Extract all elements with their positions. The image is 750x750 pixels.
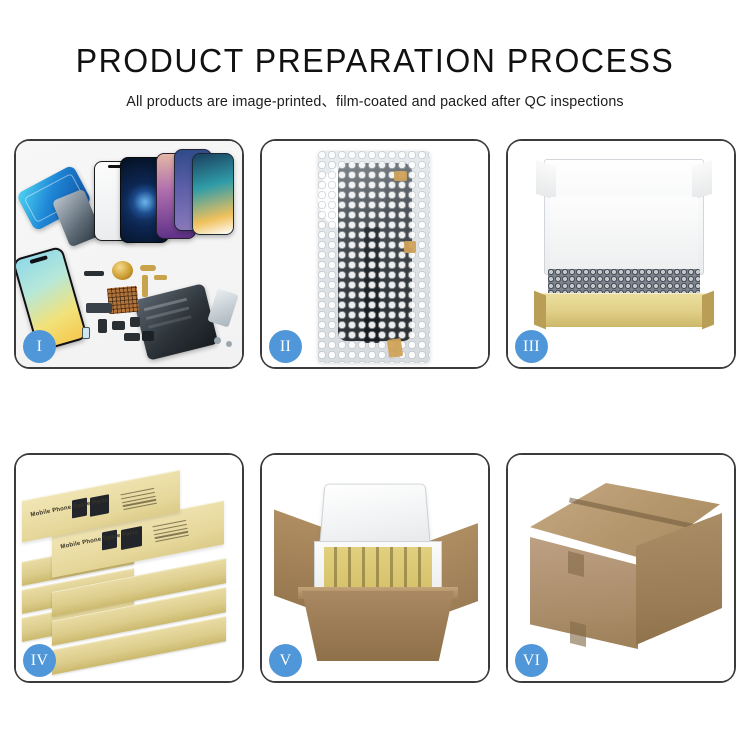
page-title: PRODUCT PREPARATION PROCESS [11,44,739,79]
spare-part [84,271,104,276]
step-badge-5: V [269,644,302,677]
foam-sheet [550,197,698,269]
process-step-5: V [260,453,490,683]
carton-body [302,591,454,661]
process-step-2: II [260,139,490,369]
spare-part [142,331,154,341]
kraft-box-base [542,293,706,327]
tape-piece [387,338,403,358]
step-badge-3: III [515,330,548,363]
step-badge-4: IV [23,644,56,677]
bubble-wrap-package [318,151,430,363]
process-step-6: VI [506,453,736,683]
tape-piece [394,171,407,181]
carton-tape-mark [570,621,586,647]
step-badge-2: II [269,330,302,363]
spare-part [82,327,90,339]
spare-part [112,321,125,330]
process-step-grid: I II [14,139,736,683]
phone-teal-gradient [192,153,234,235]
spare-part [130,317,140,327]
process-step-1: I [14,139,244,369]
tape-piece [404,241,416,253]
screw [214,337,221,344]
spare-part [86,303,112,313]
spare-part [207,288,238,327]
step-badge-1: I [23,330,56,363]
packed-product-boxes [324,547,432,589]
spare-part [140,265,156,271]
product-preparation-infographic: PRODUCT PREPARATION PROCESS All products… [0,0,750,750]
header: PRODUCT PREPARATION PROCESS All products… [0,0,750,111]
page-subtitle: All products are image-printed、film-coat… [0,90,750,111]
process-step-4: Mobile Phone Spare Parts Mobile Phone Sp… [14,453,244,683]
speaker-module [112,261,133,280]
spare-part [124,333,140,341]
foam-cooler-lid [319,484,430,546]
process-step-3: III [506,139,736,369]
carton-tape-mark [568,551,584,577]
screw [226,341,232,347]
spare-part [154,275,167,280]
bubble-texture [318,151,430,363]
spare-part [142,275,148,297]
step-badge-6: VI [515,644,548,677]
spare-part [98,319,107,333]
